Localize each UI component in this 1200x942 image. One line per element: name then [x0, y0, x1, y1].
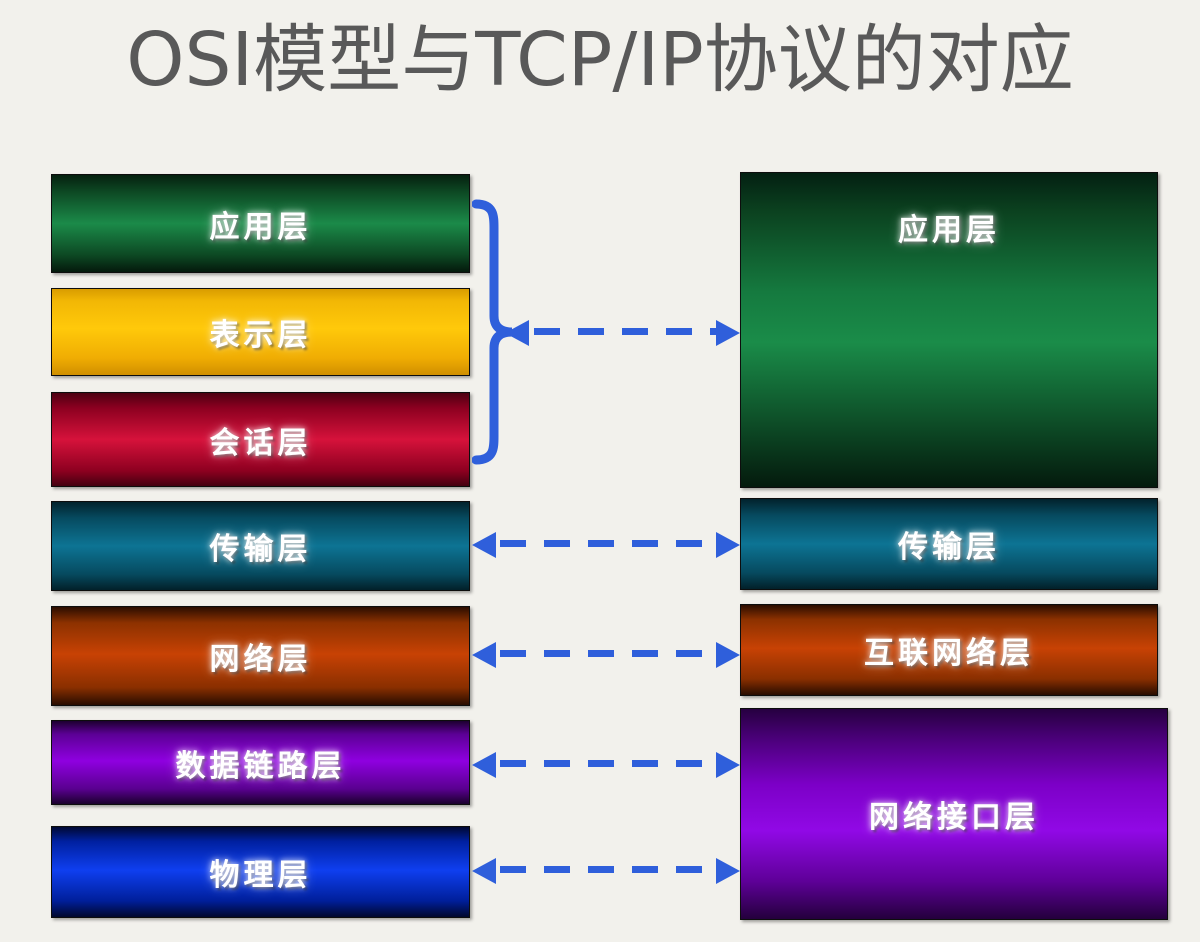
osi-layer-network[interactable]: 网络层 [51, 606, 470, 706]
tcpip-layer-internet-label: 互联网络层 [864, 628, 1034, 672]
osi-layer-transport[interactable]: 传输层 [51, 501, 470, 591]
tcpip-layer-internet[interactable]: 互联网络层 [740, 604, 1158, 696]
tcpip-layer-transport-label: 传输层 [898, 522, 1000, 566]
osi-layer-physical[interactable]: 物理层 [51, 826, 470, 918]
osi-layer-transport-label: 传输层 [210, 524, 312, 568]
osi-layer-application[interactable]: 应用层 [51, 174, 470, 273]
tcpip-layer-transport[interactable]: 传输层 [740, 498, 1158, 590]
osi-layer-data-link[interactable]: 数据链路层 [51, 720, 470, 805]
diagram-canvas: OSI模型与TCP/IP协议的对应 应用层 表示层 会话层 传输层 网络层 数据… [0, 0, 1200, 942]
osi-layer-data-link-label: 数据链路层 [176, 741, 346, 785]
osi-layer-physical-label: 物理层 [210, 850, 312, 894]
osi-layer-application-label: 应用层 [210, 202, 312, 246]
tcpip-layer-network-interface[interactable]: 网络接口层 [740, 708, 1168, 920]
osi-layer-session[interactable]: 会话层 [51, 392, 470, 487]
page-title: OSI模型与TCP/IP协议的对应 [0, 12, 1200, 108]
tcpip-layer-application-label: 应用层 [898, 205, 1000, 249]
osi-layer-session-label: 会话层 [210, 418, 312, 462]
osi-layer-presentation-label: 表示层 [210, 310, 312, 354]
osi-layer-presentation[interactable]: 表示层 [51, 288, 470, 376]
tcpip-layer-application[interactable]: 应用层 [740, 172, 1158, 488]
tcpip-layer-network-interface-label: 网络接口层 [869, 792, 1039, 836]
osi-layer-network-label: 网络层 [210, 634, 312, 678]
